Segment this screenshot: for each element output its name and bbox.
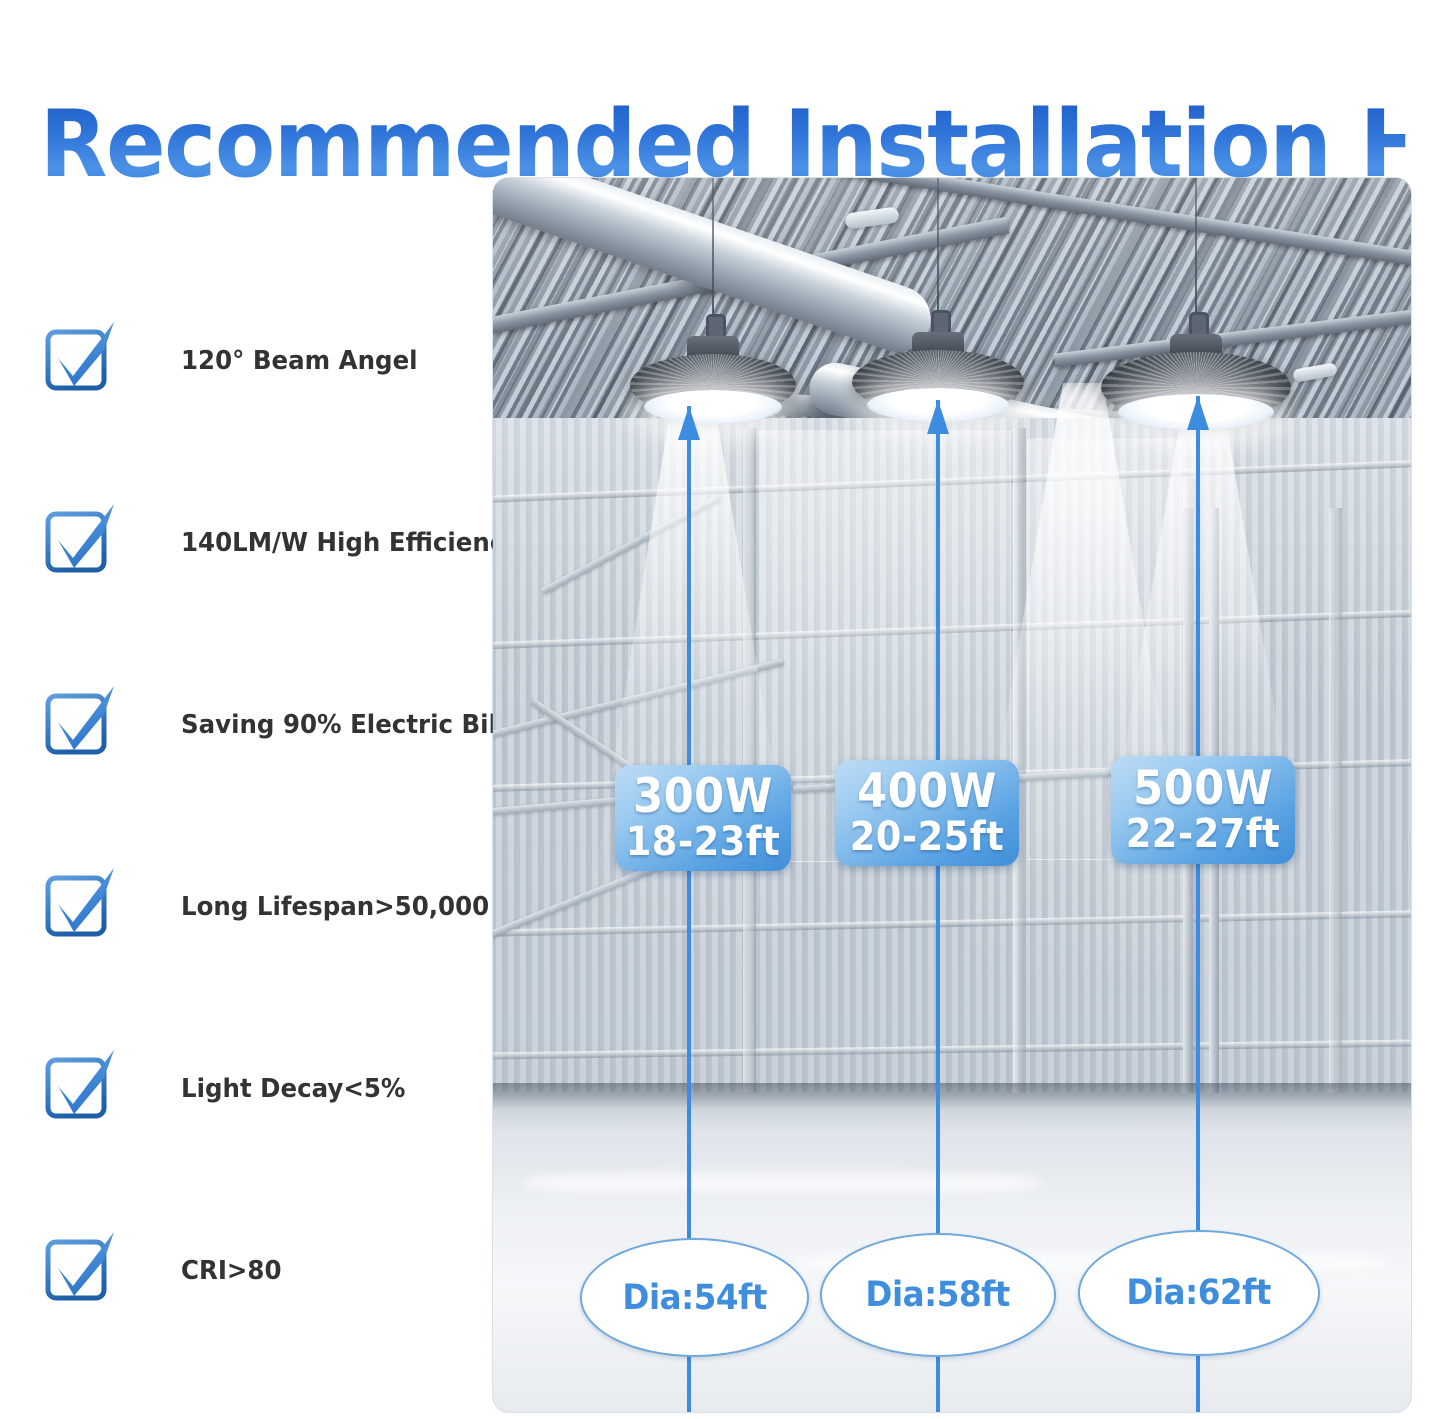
wall-column	[1329, 508, 1342, 1108]
wattage-badge: 300W 18-23ft	[615, 765, 791, 871]
checkbox-checked-icon	[42, 1048, 118, 1122]
coverage-diameter-value: Dia:54ft	[622, 1278, 766, 1318]
checkbox-checked-icon	[42, 866, 118, 940]
coverage-diameter-ellipse: Dia:58ft	[820, 1233, 1056, 1357]
floor-base-shadow	[493, 1083, 1411, 1109]
feature-item: Light Decay<5%	[40, 1028, 510, 1210]
product-infographic: Recommended Installation Height	[0, 0, 1445, 1419]
coverage-diameter-value: Dia:62ft	[1127, 1273, 1271, 1313]
high-bay-lamp	[838, 178, 1038, 408]
lamp-suspension-wire	[1195, 178, 1197, 316]
mounting-height-value: 18-23ft	[626, 821, 781, 863]
feature-label: CRI>80	[181, 1256, 282, 1286]
checkbox-checked-icon	[42, 320, 118, 394]
feature-list: 120° Beam Angel 140LM/W High Efficiency …	[40, 300, 510, 1392]
lamp-suspension-wire	[937, 178, 939, 314]
lamp-lens	[644, 390, 782, 424]
feature-item: Saving 90% Electric Bill	[40, 664, 510, 846]
coverage-diameter-ellipse: Dia:54ft	[580, 1238, 809, 1357]
feature-item: CRI>80	[40, 1210, 510, 1392]
checkbox-checked-icon	[42, 684, 118, 758]
feature-label: 120° Beam Angel	[181, 346, 418, 376]
feature-item: Long Lifespan>50,000 Hours	[40, 846, 510, 1028]
high-bay-lamp	[613, 178, 813, 408]
mounting-height-value: 22-27ft	[1126, 813, 1281, 855]
wattage-value: 300W	[633, 773, 773, 821]
coverage-diameter-ellipse: Dia:62ft	[1078, 1230, 1320, 1356]
mounting-height-value: 20-25ft	[850, 816, 1005, 858]
arrow-head-up-icon	[1187, 396, 1209, 430]
feature-item: 140LM/W High Efficiency	[40, 482, 510, 664]
feature-label: 140LM/W High Efficiency	[181, 528, 520, 558]
wattage-value: 400W	[857, 768, 997, 816]
lamp-suspension-wire	[712, 178, 714, 318]
feature-label: Light Decay<5%	[181, 1074, 405, 1104]
arrow-head-up-icon	[927, 400, 949, 434]
feature-item: 120° Beam Angel	[40, 300, 510, 482]
wattage-value: 500W	[1133, 765, 1273, 813]
floor-reflection	[523, 1168, 1043, 1198]
wattage-badge: 500W 22-27ft	[1111, 756, 1295, 864]
arrow-head-up-icon	[678, 406, 700, 440]
checkbox-checked-icon	[42, 1230, 118, 1304]
warehouse-photo: 300W 18-23ft 400W 20-25ft 500W 22-27ft D…	[493, 178, 1411, 1412]
coverage-diameter-value: Dia:58ft	[866, 1275, 1010, 1315]
wattage-badge: 400W 20-25ft	[835, 760, 1019, 866]
checkbox-checked-icon	[42, 502, 118, 576]
high-bay-lamp	[1091, 178, 1301, 418]
feature-label: Saving 90% Electric Bill	[181, 710, 505, 740]
